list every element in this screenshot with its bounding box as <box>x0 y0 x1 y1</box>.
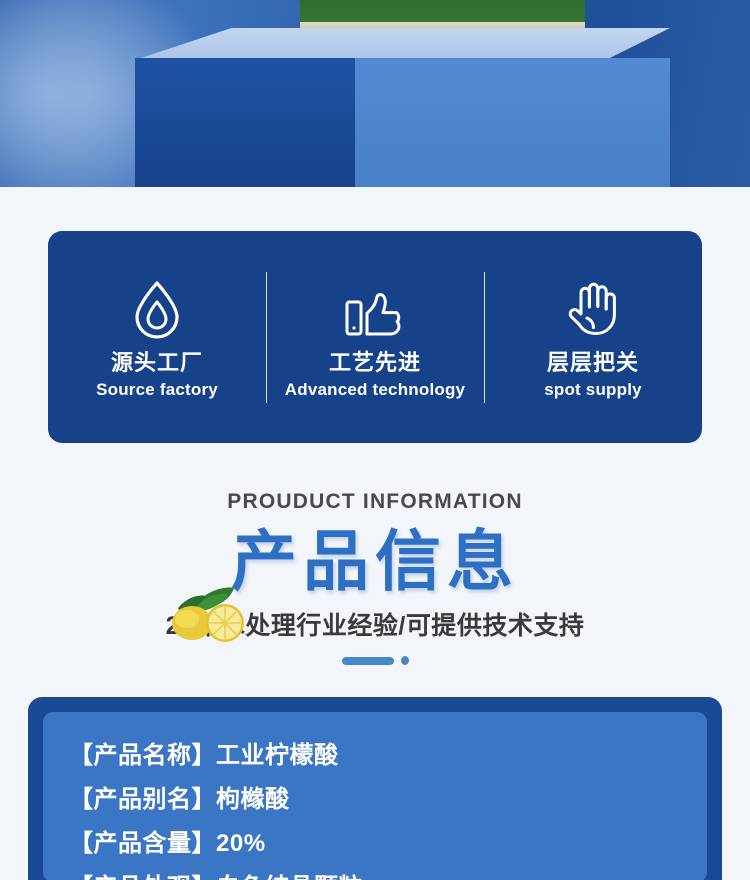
product-info-panel: 【产品名称】工业柠檬酸 【产品别名】枸橼酸 【产品含量】20% 【产品外观】白色… <box>28 697 722 880</box>
product-info-row: 【产品含量】20% <box>69 822 681 866</box>
feature-title-cn: 层层把关 <box>547 350 639 375</box>
product-info-row: 【产品名称】工业柠檬酸 <box>69 734 681 778</box>
thumbs-up-icon <box>341 278 409 340</box>
section-divider <box>0 656 750 665</box>
lemon-icon <box>168 582 254 644</box>
section-eyebrow: PROUDUCT INFORMATION <box>0 490 750 514</box>
section-title-cn: 产品信息 <box>231 524 519 598</box>
feature-title-en: Source factory <box>96 380 218 400</box>
feature-item-source-factory: 源头工厂 Source factory <box>48 231 266 443</box>
hero-banner <box>0 0 750 187</box>
feature-item-advanced-technology: 工艺先进 Advanced technology <box>266 231 484 443</box>
section-subtitle: 20年水处理行业经验/可提供技术支持 <box>0 606 750 642</box>
pedestal-side-face <box>355 58 670 187</box>
feature-highlights-card: 源头工厂 Source factory 工艺先进 Advanced techno… <box>48 231 702 443</box>
feature-title-en: Advanced technology <box>285 380 465 400</box>
open-hand-icon <box>559 278 627 340</box>
product-info-inner: 【产品名称】工业柠檬酸 【产品别名】枸橼酸 【产品含量】20% 【产品外观】白色… <box>43 712 707 880</box>
feature-title-en: spot supply <box>544 380 642 400</box>
divider-bar <box>342 657 394 665</box>
section-title-wrap: 产品信息 <box>0 520 750 602</box>
divider-dot <box>401 656 409 665</box>
feature-item-spot-supply: 层层把关 spot supply <box>484 231 702 443</box>
section-heading: PROUDUCT INFORMATION <box>0 490 750 665</box>
product-detail-page: 源头工厂 Source factory 工艺先进 Advanced techno… <box>0 0 750 880</box>
pedestal-front-face <box>135 58 360 187</box>
feature-title-cn: 工艺先进 <box>329 350 421 375</box>
water-droplet-icon <box>129 278 185 340</box>
feature-title-cn: 源头工厂 <box>111 350 203 375</box>
product-info-row: 【产品别名】枸橼酸 <box>69 778 681 822</box>
pedestal-top-face <box>135 28 670 60</box>
product-info-row: 【产品外观】白色结晶颗粒 <box>69 866 681 880</box>
